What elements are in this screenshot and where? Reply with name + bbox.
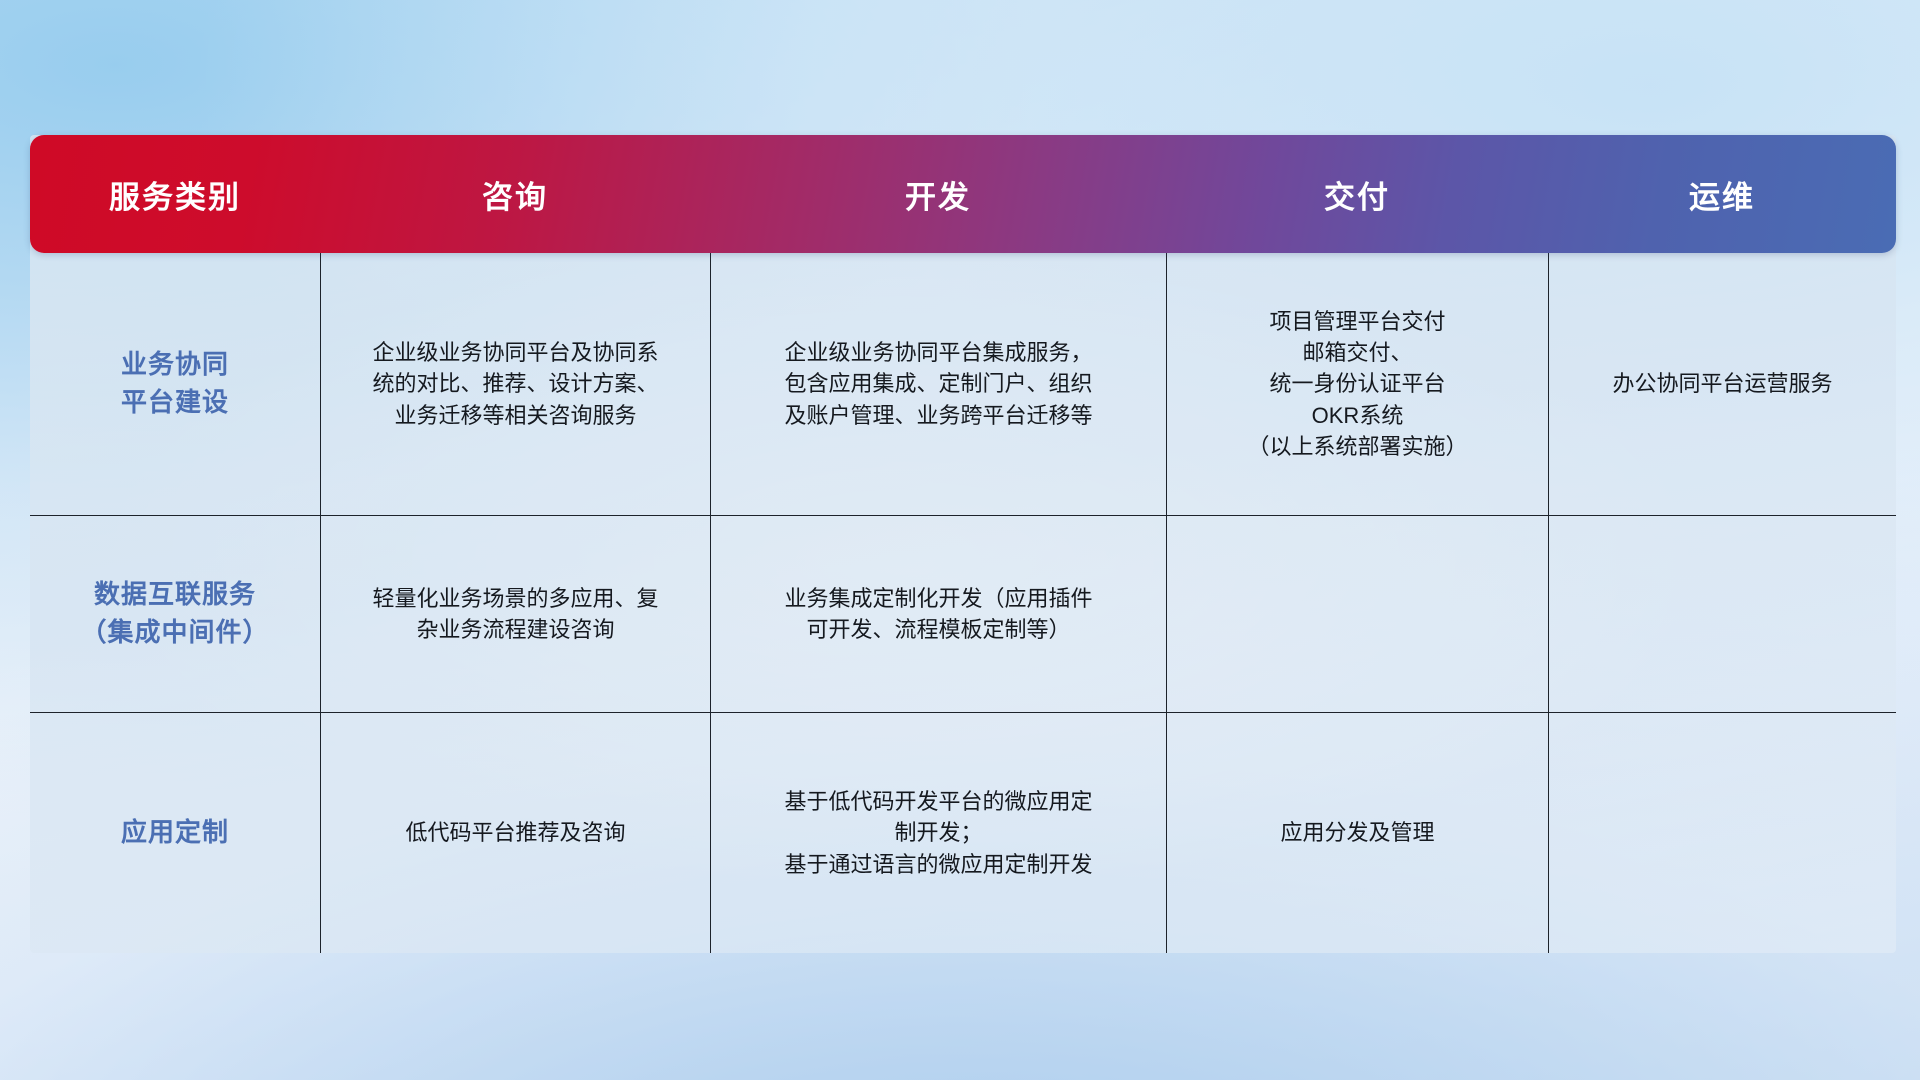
table-row: 数据互联服务 （集成中间件） 轻量化业务场景的多应用、复 杂业务流程建设咨询 业… — [30, 515, 1896, 712]
table-row: 业务协同 平台建设 企业级业务协同平台及协同系 统的对比、推荐、设计方案、 业务… — [30, 253, 1896, 515]
table-header-row: 服务类别 咨询 开发 交付 运维 — [30, 135, 1896, 253]
row-label-application-customization: 应用定制 — [30, 713, 320, 953]
cell-development-row3: 基于低代码开发平台的微应用定 制开发； 基于通过语言的微应用定制开发 — [710, 713, 1166, 953]
cell-operations-row3 — [1548, 713, 1896, 953]
table-body: 业务协同 平台建设 企业级业务协同平台及协同系 统的对比、推荐、设计方案、 业务… — [30, 253, 1896, 953]
cell-consulting-row1: 企业级业务协同平台及协同系 统的对比、推荐、设计方案、 业务迁移等相关咨询服务 — [320, 253, 710, 515]
cell-development-row1: 企业级业务协同平台集成服务， 包含应用集成、定制门户、组织 及账户管理、业务跨平… — [710, 253, 1166, 515]
column-header-consulting: 咨询 — [320, 172, 710, 217]
cell-delivery-row2 — [1166, 516, 1548, 712]
cell-delivery-row3: 应用分发及管理 — [1166, 713, 1548, 953]
table-row: 应用定制 低代码平台推荐及咨询 基于低代码开发平台的微应用定 制开发； 基于通过… — [30, 712, 1896, 953]
column-header-operations: 运维 — [1548, 172, 1896, 217]
cell-consulting-row2: 轻量化业务场景的多应用、复 杂业务流程建设咨询 — [320, 516, 710, 712]
service-matrix-table: 服务类别 咨询 开发 交付 运维 业务协同 平台建设 企业级业务协同平台及协同系… — [30, 135, 1896, 953]
cell-consulting-row3: 低代码平台推荐及咨询 — [320, 713, 710, 953]
cell-operations-row2 — [1548, 516, 1896, 712]
cell-operations-row1: 办公协同平台运营服务 — [1548, 253, 1896, 515]
slide-background: 服务类别 咨询 开发 交付 运维 业务协同 平台建设 企业级业务协同平台及协同系… — [0, 0, 1920, 1080]
column-header-development: 开发 — [710, 172, 1166, 217]
row-label-business-collaboration: 业务协同 平台建设 — [30, 253, 320, 515]
column-header-category: 服务类别 — [30, 172, 320, 217]
cell-development-row2: 业务集成定制化开发（应用插件 可开发、流程模板定制等） — [710, 516, 1166, 712]
column-header-delivery: 交付 — [1166, 172, 1548, 217]
cell-delivery-row1: 项目管理平台交付 邮箱交付、 统一身份认证平台 OKR系统 （以上系统部署实施） — [1166, 253, 1548, 515]
row-label-data-interconnection: 数据互联服务 （集成中间件） — [30, 516, 320, 712]
